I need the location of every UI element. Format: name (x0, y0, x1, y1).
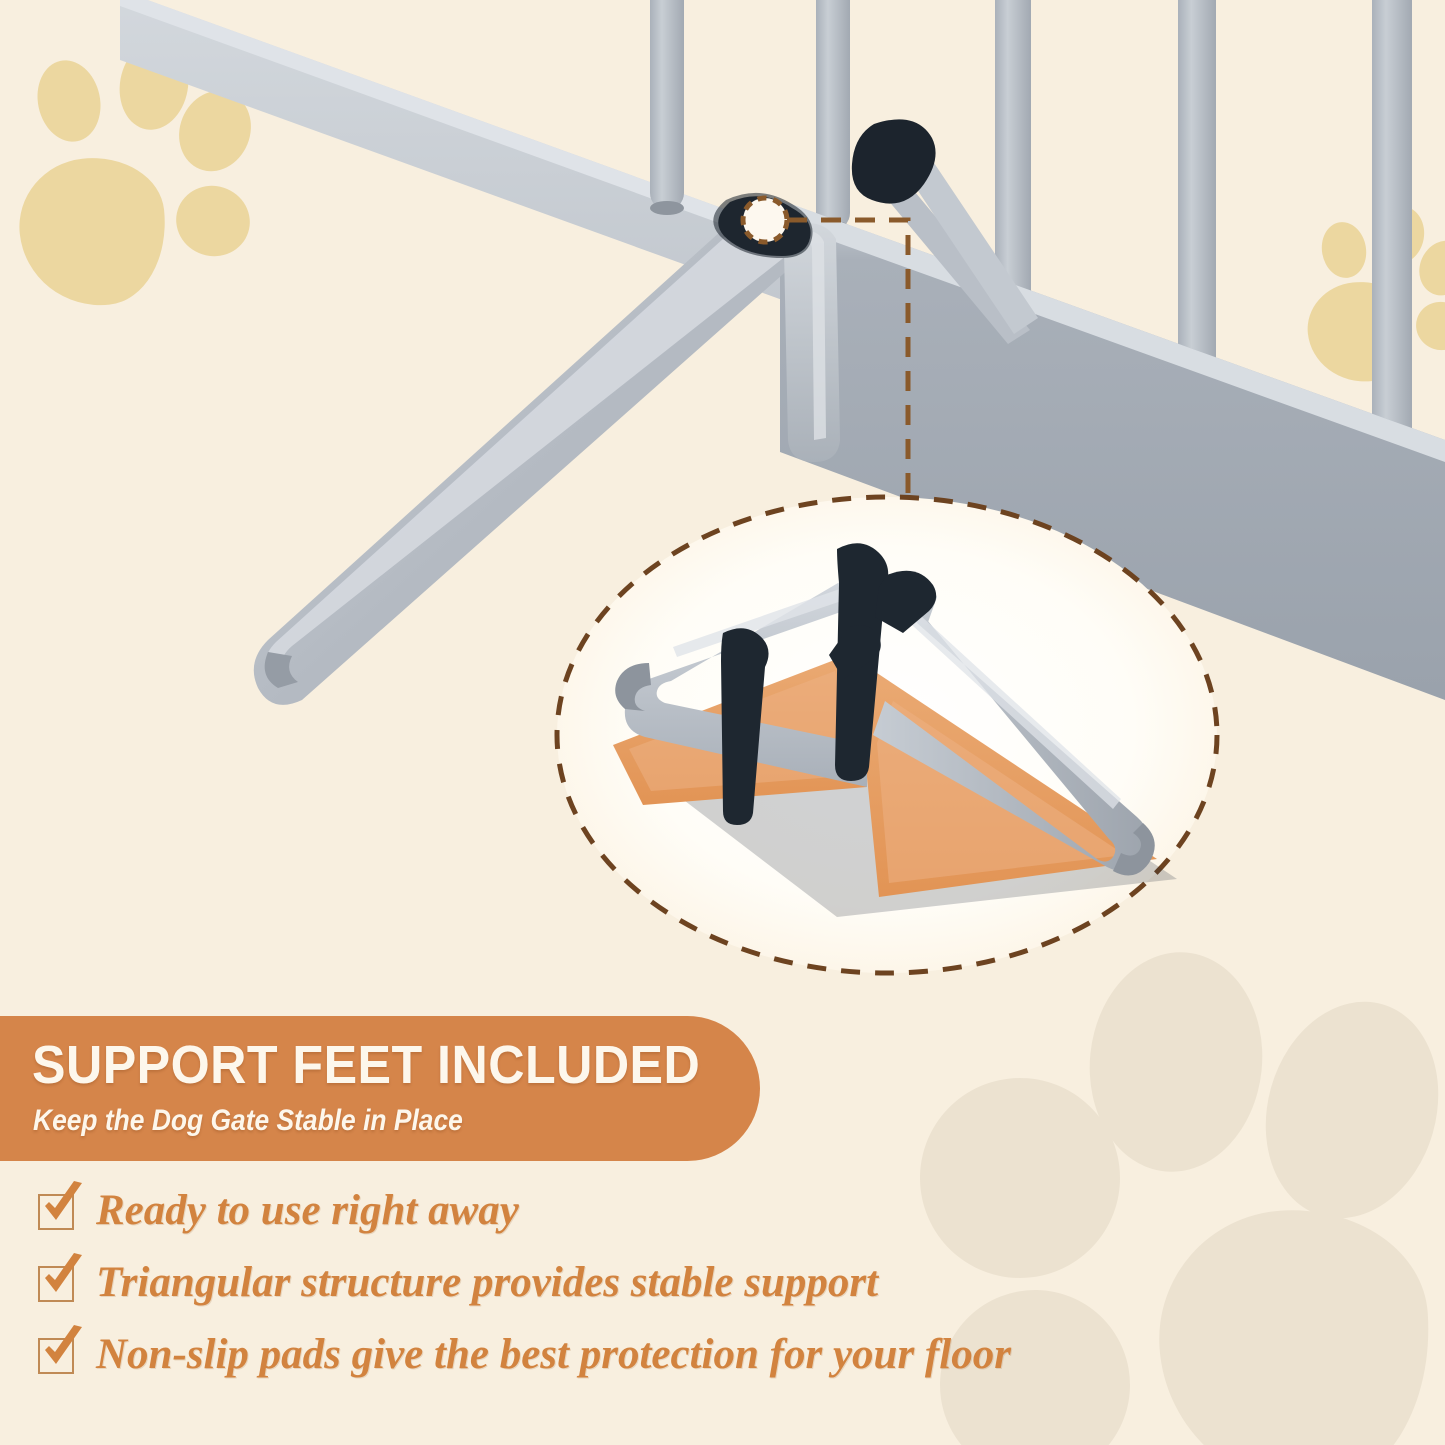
product-image-canvas: SUPPORT FEET INCLUDED Keep the Dog Gate … (0, 0, 1445, 1445)
support-leg-upright (784, 223, 840, 462)
support-foot-closeup (537, 487, 1237, 987)
banner-title: SUPPORT FEET INCLUDED (32, 1034, 700, 1096)
magnifier-circle-marker (743, 198, 787, 242)
banner-subtitle: Keep the Dog Gate Stable in Place (33, 1104, 463, 1138)
list-item-label: Non-slip pads give the best protection f… (96, 1326, 1011, 1384)
paw-heel (1151, 1201, 1440, 1445)
list-item-label: Ready to use right away (96, 1182, 519, 1240)
list-item: Non-slip pads give the best protection f… (38, 1326, 1011, 1398)
checkmark-icon (38, 1262, 80, 1304)
list-item: Ready to use right away (38, 1182, 1011, 1254)
paw-toe (1241, 981, 1445, 1239)
support-feet-banner: SUPPORT FEET INCLUDED Keep the Dog Gate … (0, 1016, 760, 1161)
checkmark-glyph (36, 1324, 88, 1376)
checkmark-icon (38, 1190, 80, 1232)
checkmark-glyph (36, 1252, 88, 1304)
checkmark-icon (38, 1334, 80, 1376)
list-item-label: Triangular structure provides stable sup… (96, 1254, 878, 1312)
checkmark-glyph (36, 1180, 88, 1232)
list-item: Triangular structure provides stable sup… (38, 1254, 1011, 1326)
feature-bullet-list: Ready to use right away Triangular struc… (38, 1182, 1011, 1398)
